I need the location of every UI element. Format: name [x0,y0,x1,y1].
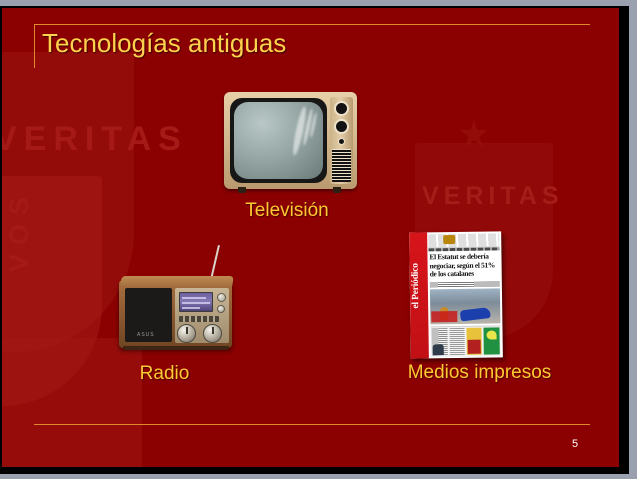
title-divider-rule [34,24,590,25]
slide-frame: VERITAS VOS VERITAS VOS Tecnologías anti… [0,6,629,474]
radio-brand-label: ASUS [137,332,155,338]
radio-image: ASUS [119,270,237,354]
newspaper-subdeck [430,281,500,287]
newspaper-image: el Periódico El Estatut se debería negoc… [409,231,503,358]
title-left-tick [34,24,35,68]
photo-car-shape [460,307,491,321]
newspaper-top-logo [443,235,455,244]
radio-power-button [217,293,226,302]
television-image [224,92,357,192]
radio-base [123,346,229,350]
radio-mode-button [217,305,225,313]
star-icon [459,120,489,150]
lcd-text-line [182,297,206,299]
television-leg [333,187,341,193]
watermark-left-veritas-text: VERITAS [2,120,188,159]
newspaper-ad-logo [486,330,496,339]
newspaper-headline: El Estatut se debería negociar, según el… [429,252,499,279]
photo-caption-overlay [431,311,457,322]
television-channel-knob [334,101,349,116]
television-tuner-knob [334,119,349,134]
radio-lcd-display [179,292,213,312]
slide-viewport: VERITAS VOS VERITAS VOS Tecnologías anti… [0,0,637,479]
watermark-left-swoosh [2,338,142,467]
television-small-knob [338,138,345,145]
radio-top-surface [120,276,233,286]
page-title: Tecnologías antiguas [42,28,286,59]
footer-divider-rule [34,424,590,425]
radio-preset-button-row [179,316,219,322]
page-number: 5 [572,438,578,450]
radio-tuning-knob [177,324,196,343]
television-screen [234,102,323,179]
newspaper-ad-red [468,340,481,354]
slide-canvas: VERITAS VOS VERITAS VOS Tecnologías anti… [2,8,619,467]
watermark-left-shield [2,52,134,352]
newspaper-rule-line [428,247,499,251]
radio-volume-knob [203,324,222,343]
television-cabinet [224,92,357,189]
newspaper-top-strip [428,233,499,248]
television-leg [238,187,246,193]
caption-radio: Radio [82,363,247,385]
caption-television: Televisión [192,200,382,222]
watermark-left-vos-text: VOS [4,188,35,272]
watermark-right-veritas-text: VERITAS [422,182,564,211]
lcd-text-line [182,307,200,309]
newspaper-masthead-text: el Periódico [410,231,421,308]
television-speaker-grille [332,149,351,182]
newspaper-column [449,328,464,355]
newspaper-portrait-photo [433,344,444,355]
caption-print-media: Medios impresos [392,360,567,386]
newspaper-lead-photo [430,288,500,324]
lcd-text-line [182,302,210,304]
